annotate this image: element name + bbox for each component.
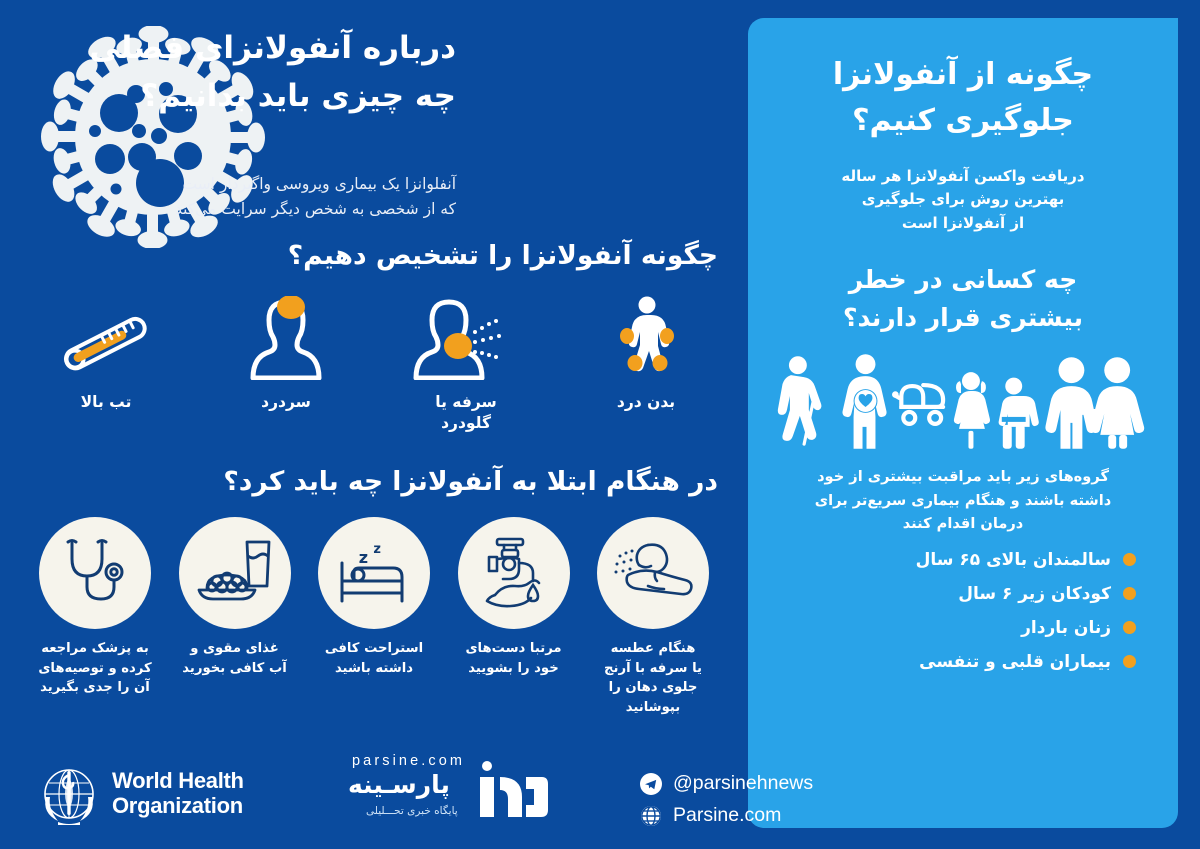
thermometer-icon xyxy=(51,296,161,380)
contact-links: @parsinehnews Parsine.com xyxy=(640,772,813,827)
stethoscope-icon xyxy=(39,517,151,629)
parsine-logo: parsine.com پارسـینه پایگاه خبری تحـــلی… xyxy=(336,751,548,827)
intro-paragraph: آنفلوانزا یک بیماری ویروسی واگیردار است … xyxy=(36,172,456,222)
headache-person-icon xyxy=(243,296,329,380)
todo-wash-hands: مرتبا دست‌های خود را بشویید xyxy=(447,517,581,678)
risk-groups-list: سالمندان بالای ۶۵ سال کودکان زیر ۶ سال ز… xyxy=(774,550,1152,672)
todo-label: به پزشک مراجعه کرده و توصیه‌های آن را جد… xyxy=(38,639,151,698)
list-item: کودکان زیر ۶ سال xyxy=(774,584,1136,604)
svg-text:z: z xyxy=(373,542,381,557)
risk-item-label: سالمندان بالای ۶۵ سال xyxy=(916,550,1111,570)
symptom-headache: سردرد xyxy=(216,296,356,413)
risk-item-label: کودکان زیر ۶ سال xyxy=(958,584,1111,604)
todo-label: استراحت کافی داشته باشید xyxy=(325,639,423,678)
infographic-poster: چگونه از آنفولانزا جلوگیری کنیم؟ دریافت … xyxy=(0,0,1200,849)
symptom-body-ache: بدن درد xyxy=(576,296,716,413)
website-url: Parsine.com xyxy=(673,804,781,827)
svg-text:z: z xyxy=(359,548,368,567)
bed-rest-icon: z z xyxy=(318,517,430,629)
risk-item-label: زنان باردار xyxy=(1021,618,1111,638)
what-to-do-row: هنگام عطسه یا سرفه با آرنج جلوی دهان را … xyxy=(28,517,720,717)
todo-label: مرتبا دست‌های خود را بشویید xyxy=(465,639,561,678)
parsine-monogram-icon xyxy=(474,759,548,825)
symptom-label: بدن درد xyxy=(617,392,675,413)
bullet-dot-icon xyxy=(1123,553,1136,566)
symptom-label: تب بالا xyxy=(81,392,132,413)
bullet-dot-icon xyxy=(1123,587,1136,600)
symptom-cough-sore-throat: سرفه یا گلودرد xyxy=(396,296,536,435)
todo-food-water: غذای مقوی و آب کافی بخورید xyxy=(168,517,302,678)
about-influenza-panel: درباره آنفولانزای فصلی چه چیزی باید بدان… xyxy=(0,0,748,849)
todo-label: هنگام عطسه یا سرفه با آرنج جلوی دهان را … xyxy=(604,639,702,717)
what-to-do-heading: در هنگام ابتلا به آنفولانزا چه باید کرد؟ xyxy=(18,466,718,497)
symptom-label: سرفه یا گلودرد xyxy=(435,392,496,435)
list-item: بیماران قلبی و تنفسی xyxy=(774,652,1136,672)
todo-see-doctor: به پزشک مراجعه کرده و توصیه‌های آن را جد… xyxy=(28,517,162,698)
bullet-dot-icon xyxy=(1123,655,1136,668)
contact-website[interactable]: Parsine.com xyxy=(640,804,813,827)
risk-groups-paragraph: گروه‌های زیر باید مراقبت بیشتری از خود د… xyxy=(774,465,1152,536)
body-ache-person-icon xyxy=(606,296,686,380)
bullet-dot-icon xyxy=(1123,621,1136,634)
list-item: سالمندان بالای ۶۵ سال xyxy=(774,550,1136,570)
page-title: درباره آنفولانزای فصلی چه چیزی باید بدان… xyxy=(36,24,456,120)
sneeze-into-elbow-icon xyxy=(597,517,709,629)
parsine-domain-text: parsine.com xyxy=(352,753,465,769)
who-logo: World Health Organization xyxy=(38,763,244,825)
who-name: World Health Organization xyxy=(112,769,244,818)
healthy-food-water-icon xyxy=(179,517,291,629)
symptom-label: سردرد xyxy=(261,392,311,413)
prevention-paragraph: دریافت واکسن آنفولانزا هر ساله بهترین رو… xyxy=(774,165,1152,235)
todo-sneeze-elbow: هنگام عطسه یا سرفه با آرنج جلوی دهان را … xyxy=(586,517,720,717)
symptoms-heading: چگونه آنفولانزا را تشخیص دهیم؟ xyxy=(18,240,718,271)
footer: World Health Organization parsine.com پا… xyxy=(0,745,1200,849)
list-item: زنان باردار xyxy=(774,618,1136,638)
who-emblem-icon xyxy=(38,763,100,825)
risk-groups-title: چه کسانی در خطر بیشتری قرار دارند؟ xyxy=(774,261,1152,337)
risk-groups-people-icon xyxy=(774,353,1152,449)
globe-icon xyxy=(640,805,662,827)
cough-sore-throat-icon xyxy=(411,296,521,380)
parsine-name-fa: پارسـینه xyxy=(348,770,450,799)
todo-label: غذای مقوی و آب کافی بخورید xyxy=(182,639,286,678)
symptoms-row: تب بالا سردرد xyxy=(36,296,716,446)
telegram-icon xyxy=(640,773,662,795)
prevention-title: چگونه از آنفولانزا جلوگیری کنیم؟ xyxy=(774,52,1152,143)
handwash-tap-icon xyxy=(458,517,570,629)
todo-rest: z z استراحت کافی داشته باشید xyxy=(307,517,441,678)
telegram-handle: @parsinehnews xyxy=(673,772,813,795)
prevention-panel: چگونه از آنفولانزا جلوگیری کنیم؟ دریافت … xyxy=(748,18,1178,828)
symptom-fever: تب بالا xyxy=(36,296,176,413)
contact-telegram[interactable]: @parsinehnews xyxy=(640,772,813,795)
parsine-subtitle-fa: پایگاه خبری تحـــلیلی xyxy=(366,805,458,817)
risk-item-label: بیماران قلبی و تنفسی xyxy=(919,652,1111,672)
